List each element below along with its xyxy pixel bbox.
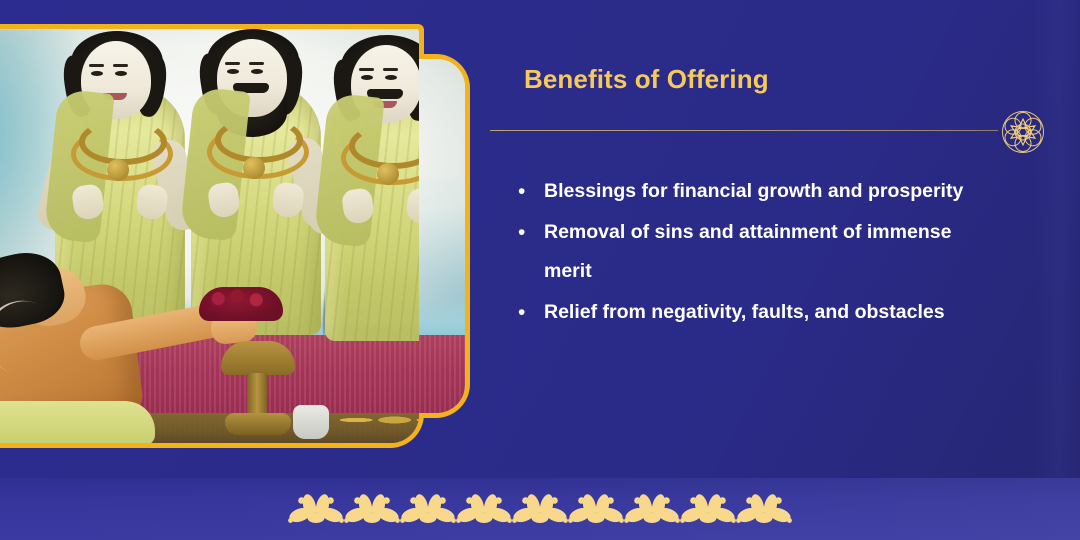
benefits-list: • Blessings for financial growth and pro… bbox=[512, 172, 982, 334]
bullet-marker-icon: • bbox=[512, 213, 544, 252]
lotus-motif-icon bbox=[344, 492, 400, 526]
slide-canvas: Benefits of Offering • Blessing bbox=[0, 0, 1080, 540]
lotus-motif-icon bbox=[288, 492, 344, 526]
ritual-offering-plates bbox=[337, 407, 419, 433]
ritual-lamp-base bbox=[225, 413, 291, 435]
ritual-lamp-stem bbox=[247, 373, 267, 415]
lotus-motif-icon bbox=[568, 492, 624, 526]
title-divider bbox=[490, 130, 998, 131]
lotus-motif-icon bbox=[456, 492, 512, 526]
illustration-surface bbox=[0, 29, 419, 443]
footer-lotus-border bbox=[0, 478, 1080, 540]
bullet-marker-icon: • bbox=[512, 293, 544, 332]
list-item: • Blessings for financial growth and pro… bbox=[512, 172, 982, 211]
background-sheen bbox=[1034, 0, 1080, 540]
illustration-frame bbox=[0, 24, 470, 448]
rosette-medallion-icon bbox=[1000, 109, 1046, 155]
list-item-label: Blessings for financial growth and prosp… bbox=[544, 172, 982, 211]
devotee-dhoti bbox=[0, 401, 155, 443]
offering-flowers bbox=[199, 287, 283, 321]
lotus-motif-icon bbox=[400, 492, 456, 526]
lotus-motif-icon bbox=[512, 492, 568, 526]
list-item-label: Removal of sins and attainment of immens… bbox=[544, 213, 982, 291]
lotus-motif-icon bbox=[624, 492, 680, 526]
list-item: • Removal of sins and attainment of imme… bbox=[512, 213, 982, 291]
list-item: • Relief from negativity, faults, and ob… bbox=[512, 293, 982, 332]
lotus-motif-icon bbox=[736, 492, 792, 526]
bullet-marker-icon: • bbox=[512, 172, 544, 211]
ritual-lamp-bowl bbox=[221, 341, 295, 375]
page-title: Benefits of Offering bbox=[524, 64, 769, 95]
ritual-water-pot bbox=[293, 405, 329, 439]
illustration-art bbox=[0, 29, 419, 443]
lotus-motif-icon bbox=[680, 492, 736, 526]
list-item-label: Relief from negativity, faults, and obst… bbox=[544, 293, 982, 332]
